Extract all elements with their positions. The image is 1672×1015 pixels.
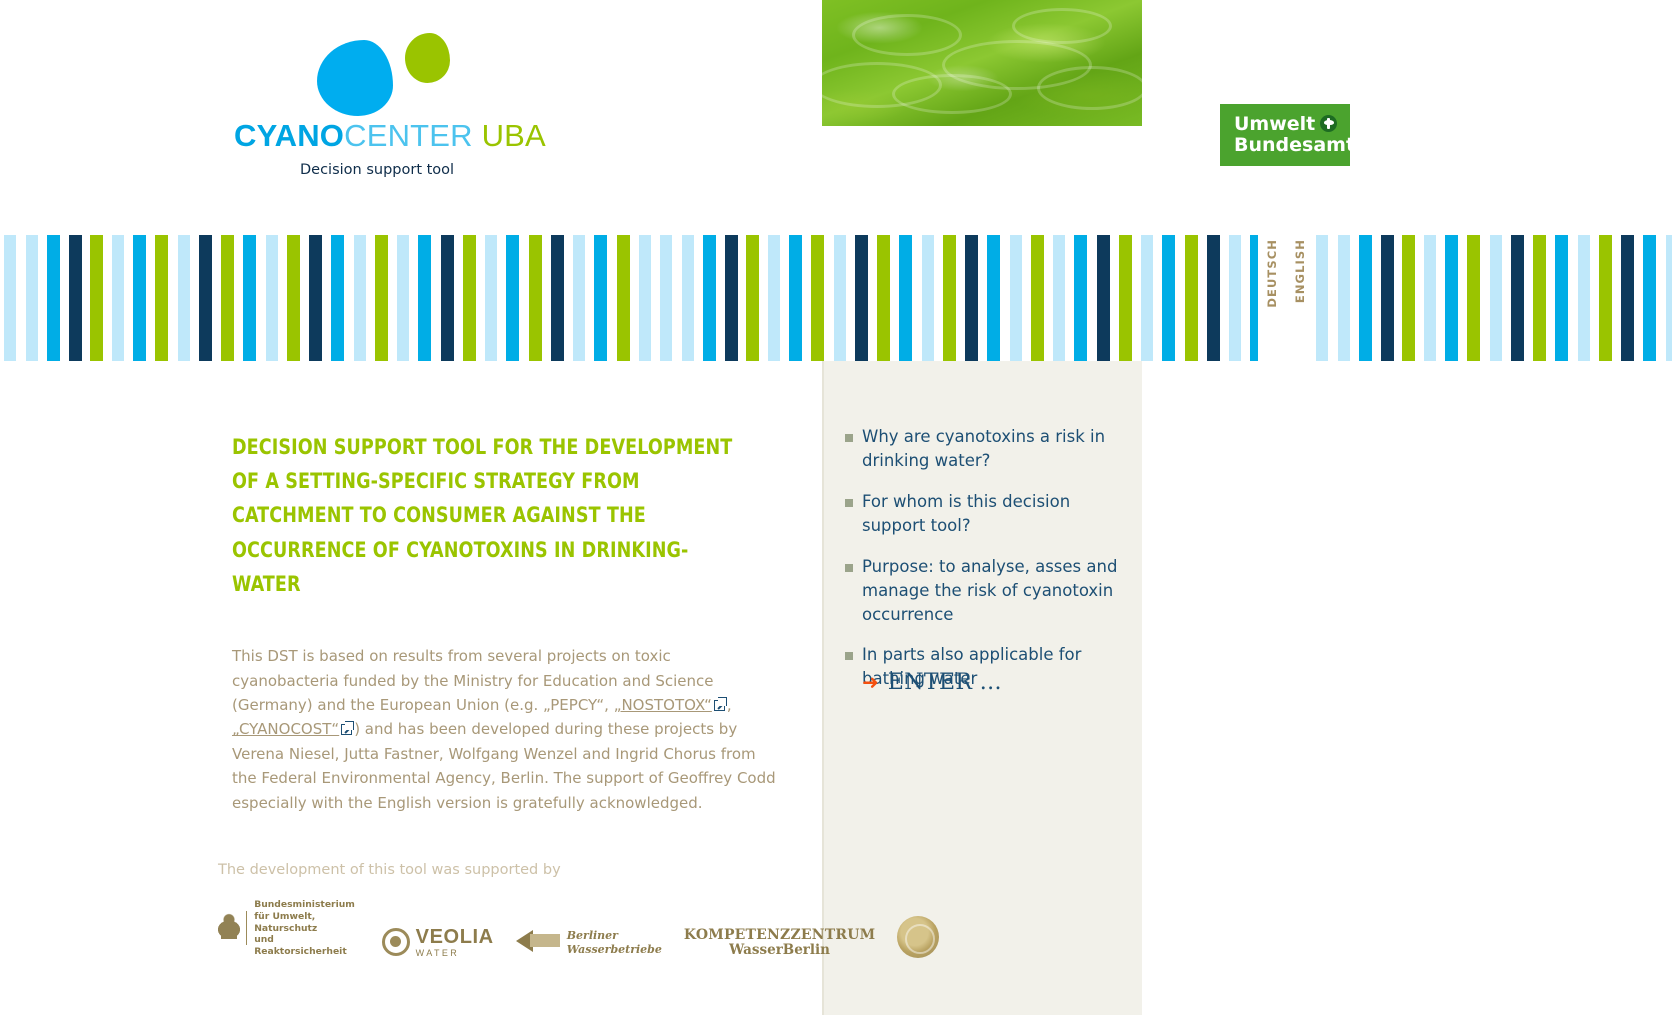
- stripe: [1666, 235, 1672, 361]
- uba-tree-icon: [1320, 115, 1337, 132]
- green-blob-icon: [405, 33, 450, 83]
- stripe: [199, 235, 212, 361]
- stripe: [47, 235, 60, 361]
- logo-word-center: CENTER: [344, 118, 473, 153]
- bullet-square-icon: [845, 434, 853, 442]
- bullet-square-icon: [845, 564, 853, 572]
- list-item[interactable]: Purpose: to analyse, asses and manage th…: [838, 555, 1128, 627]
- link-nostotox[interactable]: „NOSTOTOX“: [614, 696, 712, 714]
- logo-blobs: [232, 28, 522, 120]
- bullet-square-icon: [845, 499, 853, 507]
- stripe: [1555, 235, 1568, 361]
- logo-word-uba: UBA: [473, 118, 546, 153]
- stripe: [1010, 235, 1022, 361]
- veolia-name: VEOLIA: [416, 927, 494, 947]
- stripe: [266, 235, 278, 361]
- stripe: [789, 235, 802, 361]
- intro-paragraph: This DST is based on results from severa…: [232, 644, 777, 815]
- stripe: [1599, 235, 1612, 361]
- side-panel-bullet-list: Why are cyanotoxins a risk in drinking w…: [838, 425, 1128, 708]
- language-link-deutsch[interactable]: DEUTSCH: [1265, 239, 1279, 308]
- stripe: [1031, 235, 1044, 361]
- stripe: [1467, 235, 1480, 361]
- enter-link[interactable]: ➜ ENTER ...: [862, 670, 1002, 695]
- stripe: [418, 235, 431, 361]
- stripe: [987, 235, 1000, 361]
- sponsor-section: The development of this tool was support…: [218, 862, 818, 958]
- stripe: [1578, 235, 1590, 361]
- stripe: [441, 235, 454, 361]
- stripe: [1381, 235, 1394, 361]
- sponsor-logo-row: Bundesministerium für Umwelt, Naturschut…: [218, 899, 818, 958]
- stripe: [1511, 235, 1524, 361]
- stripe: [90, 235, 103, 361]
- stripe: [375, 235, 388, 361]
- stripe: [133, 235, 146, 361]
- stripe: [506, 235, 519, 361]
- bmu-line1: Bundesministerium: [254, 899, 359, 911]
- external-link-icon: [341, 724, 352, 735]
- bmu-line2: für Umwelt, Naturschutz: [254, 911, 359, 935]
- stripe: [1097, 235, 1110, 361]
- divider: [246, 911, 248, 945]
- stripe: [4, 235, 16, 361]
- stripe: [178, 235, 190, 361]
- list-item-label: For whom is this decision support tool?: [862, 490, 1128, 538]
- language-switch-deutsch-wrap: DEUTSCH: [1265, 239, 1279, 308]
- stripe: [1359, 235, 1372, 361]
- stripe: [331, 235, 344, 361]
- stripe: [1643, 235, 1656, 361]
- list-item[interactable]: For whom is this decision support tool?: [838, 490, 1128, 538]
- stripe: [1141, 235, 1153, 361]
- link-cyanocost[interactable]: „CYANOCOST“: [232, 720, 339, 738]
- stripe: [1162, 235, 1175, 361]
- language-link-english[interactable]: ENGLISH: [1293, 239, 1307, 303]
- stripe: [243, 235, 256, 361]
- stripe: [155, 235, 168, 361]
- stripe: [1338, 235, 1350, 361]
- stripe: [746, 235, 759, 361]
- stripe: [855, 235, 868, 361]
- sponsor-logo-bmu[interactable]: Bundesministerium für Umwelt, Naturschut…: [218, 899, 360, 958]
- kwb-line1: KOMPETENZZENTRUM: [684, 928, 875, 943]
- stripe: [1185, 235, 1198, 361]
- veolia-droplet-icon: [382, 928, 410, 956]
- list-item-label: Why are cyanotoxins a risk in drinking w…: [862, 425, 1128, 473]
- arrow-left-icon: [516, 928, 562, 958]
- stripe: [725, 235, 738, 361]
- stripe: [112, 235, 124, 361]
- language-switch-english-wrap: ENGLISH: [1293, 239, 1307, 303]
- side-panel: Why are cyanotoxins a risk in drinking w…: [822, 361, 1142, 1015]
- seal-icon: [897, 916, 939, 958]
- stripe: [573, 235, 585, 361]
- main-content: DECISION SUPPORT TOOL FOR THE DEVELOPMEN…: [232, 430, 777, 815]
- stripe: [1621, 235, 1634, 361]
- stripe: [1053, 235, 1065, 361]
- uba-line2: Bundesamt: [1234, 135, 1350, 156]
- stripe: [877, 235, 890, 361]
- stripe: [1533, 235, 1546, 361]
- umweltbundesamt-logo[interactable]: Umwelt Bundesamt: [1220, 104, 1350, 166]
- stripe: [768, 235, 780, 361]
- stripe: [69, 235, 82, 361]
- stripe: [660, 235, 672, 361]
- bmu-logo-text: Bundesministerium für Umwelt, Naturschut…: [254, 899, 359, 958]
- logo-subtitle: Decision support tool: [300, 162, 522, 178]
- stripe: [1402, 235, 1415, 361]
- stripe: [551, 235, 564, 361]
- blue-blob-icon: [317, 40, 393, 116]
- stripe: [922, 235, 934, 361]
- kwb-logo-text: KOMPETENZZENTRUM WasserBerlin: [684, 928, 875, 958]
- stripe: [221, 235, 234, 361]
- stripe: [1490, 235, 1502, 361]
- stripe: [1119, 235, 1132, 361]
- list-item[interactable]: Why are cyanotoxins a risk in drinking w…: [838, 425, 1128, 473]
- stripe: [397, 235, 409, 361]
- external-link-icon: [714, 700, 725, 711]
- sponsor-caption: The development of this tool was support…: [218, 862, 818, 878]
- stripe: [682, 235, 694, 361]
- logo-word-cyano: CYANO: [234, 118, 344, 153]
- stripe: [1207, 235, 1220, 361]
- stripe: [485, 235, 497, 361]
- stripe: [943, 235, 956, 361]
- algae-photo: [822, 0, 1142, 126]
- stripe: [811, 235, 824, 361]
- stripe: [529, 235, 542, 361]
- list-item-label: Purpose: to analyse, asses and manage th…: [862, 555, 1128, 627]
- stripe: [703, 235, 716, 361]
- stripe: [965, 235, 978, 361]
- logo-wordmark: CYANOCENTER UBA: [234, 120, 522, 151]
- bwb-line2: Wasserbetriebe: [567, 943, 662, 957]
- site-logo[interactable]: CYANOCENTER UBA Decision support tool: [232, 28, 522, 178]
- stripe: [463, 235, 476, 361]
- arrow-right-icon: ➜: [862, 673, 879, 693]
- sponsor-logo-kompetenzzentrum[interactable]: KOMPETENZZENTRUM WasserBerlin: [684, 928, 875, 958]
- page-root: CYANOCENTER UBA Decision support tool Um…: [0, 0, 1672, 1015]
- bmu-line3: und Reaktorsicherheit: [254, 934, 359, 958]
- stripe: [1445, 235, 1458, 361]
- veolia-sub: WATER: [416, 949, 494, 958]
- federal-eagle-icon: [218, 913, 240, 943]
- stripe: [1316, 235, 1328, 361]
- stripe: [26, 235, 38, 361]
- bwb-logo-text: Berliner Wasserbetriebe: [567, 929, 662, 957]
- intro-text-segment-2: ,: [727, 696, 732, 714]
- stripe: [1074, 235, 1087, 361]
- veolia-logo-text: VEOLIA WATER: [416, 927, 494, 958]
- sponsor-logo-berliner-wasserbetriebe[interactable]: Berliner Wasserbetriebe: [516, 928, 662, 958]
- stripe: [617, 235, 630, 361]
- stripe: [594, 235, 607, 361]
- stripe: [899, 235, 912, 361]
- stripe: [354, 235, 366, 361]
- bullet-square-icon: [845, 652, 853, 660]
- sponsor-logo-veolia[interactable]: VEOLIA WATER: [382, 927, 494, 958]
- stripe: [639, 235, 651, 361]
- page-title: DECISION SUPPORT TOOL FOR THE DEVELOPMEN…: [232, 430, 739, 601]
- bwb-line1: Berliner: [567, 929, 662, 943]
- sponsor-logo-seal[interactable]: [897, 916, 939, 958]
- enter-link-label: ENTER ...: [888, 670, 1002, 695]
- stripe: [834, 235, 846, 361]
- stripe: [1424, 235, 1436, 361]
- uba-line1: Umwelt: [1234, 113, 1315, 135]
- stripe: [287, 235, 300, 361]
- stripe: [1229, 235, 1241, 361]
- decorative-stripe-band: [0, 235, 1672, 361]
- stripe: [309, 235, 322, 361]
- kwb-line2: WasserBerlin: [684, 943, 875, 958]
